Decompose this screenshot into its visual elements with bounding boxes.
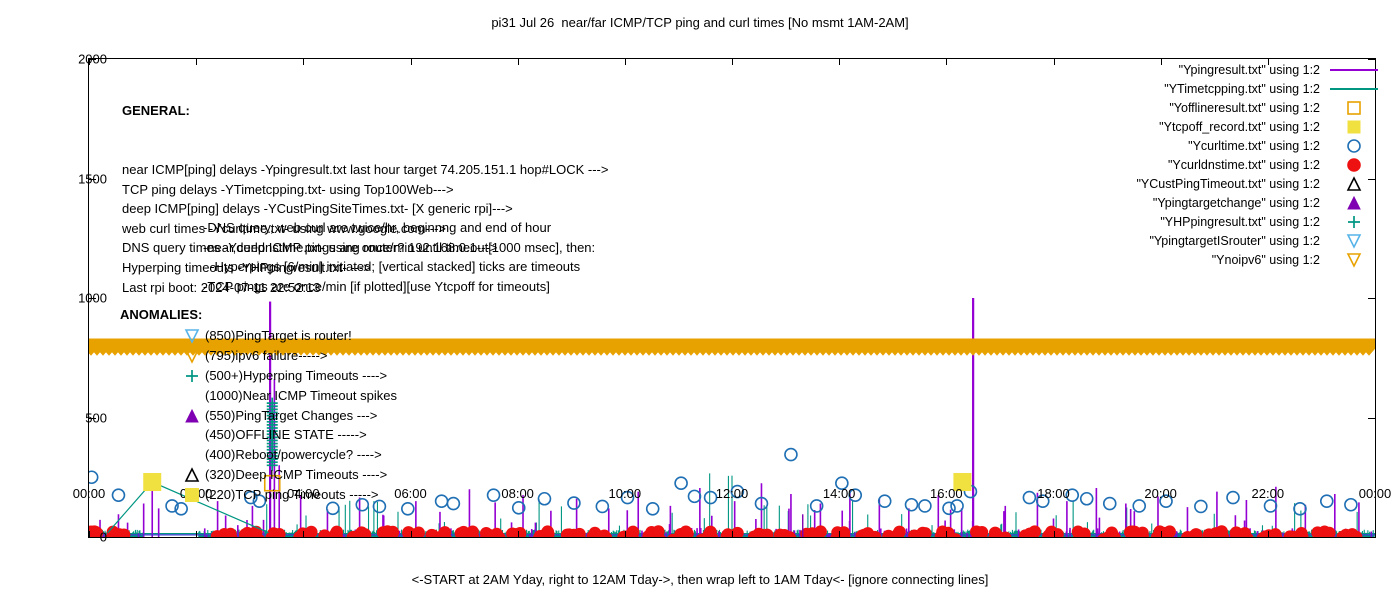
legend-item: "Ypingtargetchange" using 1:2 [1082, 193, 1382, 212]
y-tick-label: 0 [100, 530, 107, 545]
legend-item-label: "Ypingresult.txt" using 1:2 [1179, 63, 1320, 77]
anomaly-item: (400)Reboot/powercycle? ----> [205, 445, 397, 465]
anomaly-item: (1000)Near ICMP Timeout spikes [205, 386, 397, 406]
page-title: pi31 Jul 26 near/far ICMP/TCP ping and c… [0, 15, 1400, 30]
x-tick-label: 14:00 [823, 486, 856, 501]
general-line: deep ICMP[ping] delays -YCustPingSiteTim… [122, 199, 608, 219]
anomaly-label: (450)OFFLINE STATE -----> [205, 427, 367, 442]
y-tick-label: 500 [85, 410, 107, 425]
x-tick-label: 00:00 [1359, 486, 1392, 501]
legend-item: "YTimetcpping.txt" using 1:2 [1082, 79, 1382, 98]
anomaly-item: (550)PingTarget Changes ---> [205, 406, 397, 426]
x-tick-label: 06:00 [394, 486, 427, 501]
legend-key-open-triangle-down-icon [1326, 250, 1382, 269]
legend-item-label: "Ycurltime.txt" using 1:2 [1188, 139, 1320, 153]
x-axis-caption: <-START at 2AM Yday, right to 12AM Tday-… [0, 572, 1400, 587]
anomalies-annotation-block: (850)PingTarget is router!(795)ipv6 fail… [205, 326, 397, 505]
legend-item: "Yofflineresult.txt" using 1:2 [1082, 98, 1382, 117]
anomaly-key-open-triangle-down-icon [183, 327, 201, 345]
legend-item-label: "Yofflineresult.txt" using 1:2 [1169, 101, 1320, 115]
anomaly-label: (220)TCP ping Timeouts -----> [205, 487, 379, 502]
note-line: -near,deep ICMP pings are once/min until… [203, 238, 595, 258]
legend-item: "YpingtargetISrouter" using 1:2 [1082, 231, 1382, 250]
anomaly-key-filled-square-icon [183, 486, 201, 504]
note-line: -TCP pings are once/min [if plotted][use… [203, 277, 595, 297]
y-tick-label: 1000 [78, 291, 107, 306]
anomaly-item: (500+)Hyperping Timeouts ----> [205, 366, 397, 386]
legend-key-filled-triangle-up-icon [1326, 193, 1382, 212]
legend-item-label: "Ypingtargetchange" using 1:2 [1153, 196, 1320, 210]
anomaly-item: (850)PingTarget is router! [205, 326, 397, 346]
legend-item: "Ypingresult.txt" using 1:2 [1082, 60, 1382, 79]
anomaly-label: (550)PingTarget Changes ---> [205, 408, 377, 423]
x-tick-label: 10:00 [609, 486, 642, 501]
x-tick-label: 12:00 [716, 486, 749, 501]
legend-key-open-square-icon [1326, 98, 1382, 117]
legend-item: "Ynoipv6" using 1:2 [1082, 250, 1382, 269]
general-line: near ICMP[ping] delays -Ypingresult.txt … [122, 160, 608, 180]
legend-key-open-triangle-up-icon [1326, 174, 1382, 193]
anomaly-item: (795)ipv6 failure-----> [205, 346, 397, 366]
note-line: -Hyperpings [6/min] initiated; [vertical… [203, 257, 595, 277]
x-tick-label: 20:00 [1144, 486, 1177, 501]
legend-key-filled-square-icon [1326, 117, 1382, 136]
legend-item: "Ycurldnstime.txt" using 1:2 [1082, 155, 1382, 174]
legend-item: "YCustPingTimeout.txt" using 1:2 [1082, 174, 1382, 193]
legend-item: "YHPpingresult.txt" using 1:2 [1082, 212, 1382, 231]
anomaly-label: (320)Deep ICMP Timeouts ----> [205, 467, 387, 482]
anomaly-item: (320)Deep ICMP Timeouts ----> [205, 465, 397, 485]
anomaly-label: (1000)Near ICMP Timeout spikes [205, 388, 397, 403]
anomalies-heading: ANOMALIES: [120, 307, 202, 322]
anomaly-key-open-triangle-up-icon [183, 466, 201, 484]
legend-item-label: "Ytcpoff_record.txt" using 1:2 [1159, 120, 1320, 134]
legend-item: "Ytcpoff_record.txt" using 1:2 [1082, 117, 1382, 136]
chart-page: pi31 Jul 26 near/far ICMP/TCP ping and c… [0, 0, 1400, 600]
legend-key-filled-circle-icon [1326, 155, 1382, 174]
anomaly-key-plus-icon [183, 367, 201, 385]
anomaly-key-filled-triangle-up-icon [183, 407, 201, 425]
legend-key-open-triangle-down-icon [1326, 231, 1382, 250]
legend-key-line-icon [1326, 60, 1382, 79]
chart-legend: "Ypingresult.txt" using 1:2"YTimetcpping… [1082, 60, 1382, 269]
legend-item-label: "YHPpingresult.txt" using 1:2 [1160, 215, 1320, 229]
x-tick-label: 00:00 [73, 486, 106, 501]
x-tick-label: 08:00 [501, 486, 534, 501]
legend-item-label: "Ycurldnstime.txt" using 1:2 [1168, 158, 1320, 172]
y-tick-label: 1500 [78, 171, 107, 186]
legend-key-open-circle-icon [1326, 136, 1382, 155]
x-tick-label: 18:00 [1037, 486, 1070, 501]
anomaly-label: (500+)Hyperping Timeouts ----> [205, 368, 387, 383]
note-line: -DNS query, web curl are twice/hr, begin… [203, 218, 595, 238]
legend-item: "Ycurltime.txt" using 1:2 [1082, 136, 1382, 155]
anomaly-item: (220)TCP ping Timeouts -----> [205, 485, 397, 505]
legend-key-line-icon [1326, 79, 1382, 98]
legend-key-plus-icon [1326, 212, 1382, 231]
anomaly-item: (450)OFFLINE STATE -----> [205, 425, 397, 445]
general-heading: GENERAL: [122, 101, 608, 121]
x-tick-label: 22:00 [1252, 486, 1285, 501]
anomaly-label: (795)ipv6 failure-----> [205, 348, 327, 363]
anomaly-label: (400)Reboot/powercycle? ----> [205, 447, 382, 462]
legend-item-label: "YpingtargetISrouter" using 1:2 [1149, 234, 1320, 248]
legend-item-label: "Ynoipv6" using 1:2 [1212, 253, 1320, 267]
general-line: TCP ping delays -YTimetcpping.txt- using… [122, 180, 608, 200]
legend-item-label: "YCustPingTimeout.txt" using 1:2 [1137, 177, 1321, 191]
anomaly-key-open-triangle-down-icon [183, 347, 201, 365]
anomaly-label: (850)PingTarget is router! [205, 328, 352, 343]
x-tick-label: 16:00 [930, 486, 963, 501]
legend-item-label: "YTimetcpping.txt" using 1:2 [1164, 82, 1320, 96]
y-tick-label: 2000 [78, 52, 107, 67]
notes-annotation-block: -DNS query, web curl are twice/hr, begin… [203, 218, 595, 296]
